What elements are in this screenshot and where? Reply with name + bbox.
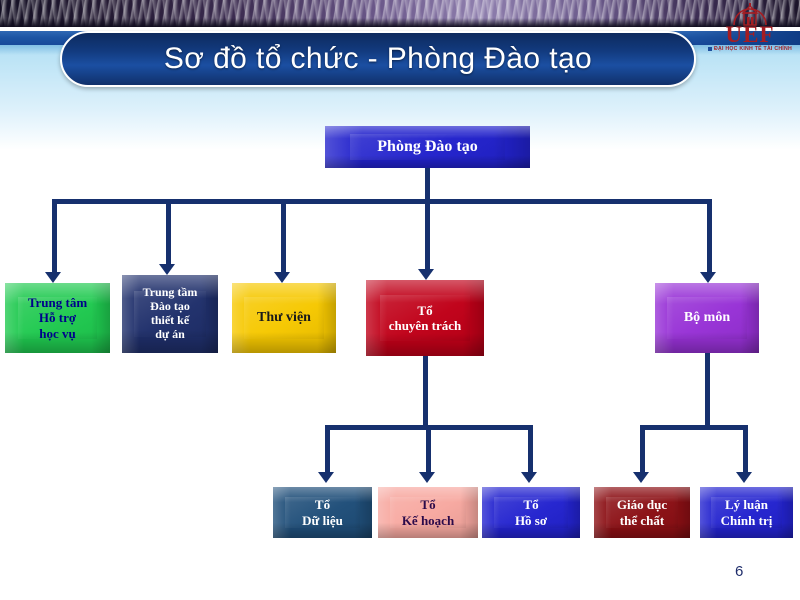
node-label: Tổ chuyên trách [386,303,465,333]
node-to-du-lieu[interactable]: Tổ Dữ liệu [273,487,372,538]
arrow-n1 [45,272,61,283]
arrow-n4a [318,472,334,483]
node-to-ke-hoach[interactable]: Tổ Kế hoạch [378,487,478,538]
node-to-chuyen-trach[interactable]: Tổ chuyên trách [366,280,484,356]
connector-drop-n4c [528,425,533,472]
connector-level1-bus [52,199,712,204]
node-label: Lý luận Chính trị [718,497,776,527]
node-label: Tổ Kế hoạch [399,497,457,527]
connector-root-stem [425,168,430,199]
node-label: Bộ môn [681,310,733,326]
node-label: Thư viện [254,310,314,326]
connector-n4-stem [423,356,428,428]
connector-drop-n4 [425,199,430,269]
connector-n5-stem [705,353,710,428]
node-bo-mon[interactable]: Bộ môn [655,283,759,353]
node-trung-tam-dao-tao-thiet-ke-du-an[interactable]: Trung tầm Đào tạo thiết kế dự án [122,275,218,353]
connector-drop-n5b [743,425,748,472]
node-to-ho-so[interactable]: Tổ Hồ sơ [482,487,580,538]
arrow-n4b [419,472,435,483]
connector-drop-n5 [707,199,712,272]
arrow-n3 [274,272,290,283]
connector-drop-n4b [426,425,431,472]
uef-logo: UEF ĐẠI HỌC KINH TẾ TÀI CHÍNH [704,2,796,56]
connector-drop-n5a [640,425,645,472]
node-label: Giáo dục thể chất [614,497,670,527]
node-giao-duc-the-chat[interactable]: Giáo dục thể chất [594,487,690,538]
connector-drop-n3 [281,199,286,272]
logo-wordmark: UEF [704,23,796,46]
arrow-n5a [633,472,649,483]
slide-canvas: Sơ đồ tổ chức - Phòng Đào tạo UEF ĐẠI HỌ… [0,0,800,600]
node-label: Trung tầm Đào tạo thiết kế dự án [140,286,201,342]
connector-drop-n4a [325,425,330,472]
slide-title-banner: Sơ đồ tổ chức - Phòng Đào tạo [60,31,696,87]
arrow-n5 [700,272,716,283]
node-ly-luan-chinh-tri[interactable]: Lý luận Chính trị [700,487,793,538]
arrow-n5b [736,472,752,483]
connector-drop-n2 [166,199,171,264]
logo-tagline: ĐẠI HỌC KINH TẾ TÀI CHÍNH [704,46,796,52]
connector-drop-n1 [52,199,57,272]
page-number: 6 [735,563,743,580]
node-label: Tổ Dữ liệu [299,497,346,527]
arrow-n4 [418,269,434,280]
node-label: Phòng Đào tạo [374,138,480,157]
page-title: Sơ đồ tổ chức - Phòng Đào tạo [164,42,592,76]
header-ray-pattern [0,0,800,27]
node-thu-vien[interactable]: Thư viện [232,283,336,353]
arrow-n4c [521,472,537,483]
node-label: Tổ Hồ sơ [512,497,550,527]
node-trung-tam-ho-tro-hoc-vu[interactable]: Trung tâm Hỗ trợ học vụ [5,283,110,353]
node-root[interactable]: Phòng Đào tạo [325,126,530,168]
node-label: Trung tâm Hỗ trợ học vụ [25,295,90,340]
connector-n5-bus [640,425,748,430]
arrow-n2 [159,264,175,275]
